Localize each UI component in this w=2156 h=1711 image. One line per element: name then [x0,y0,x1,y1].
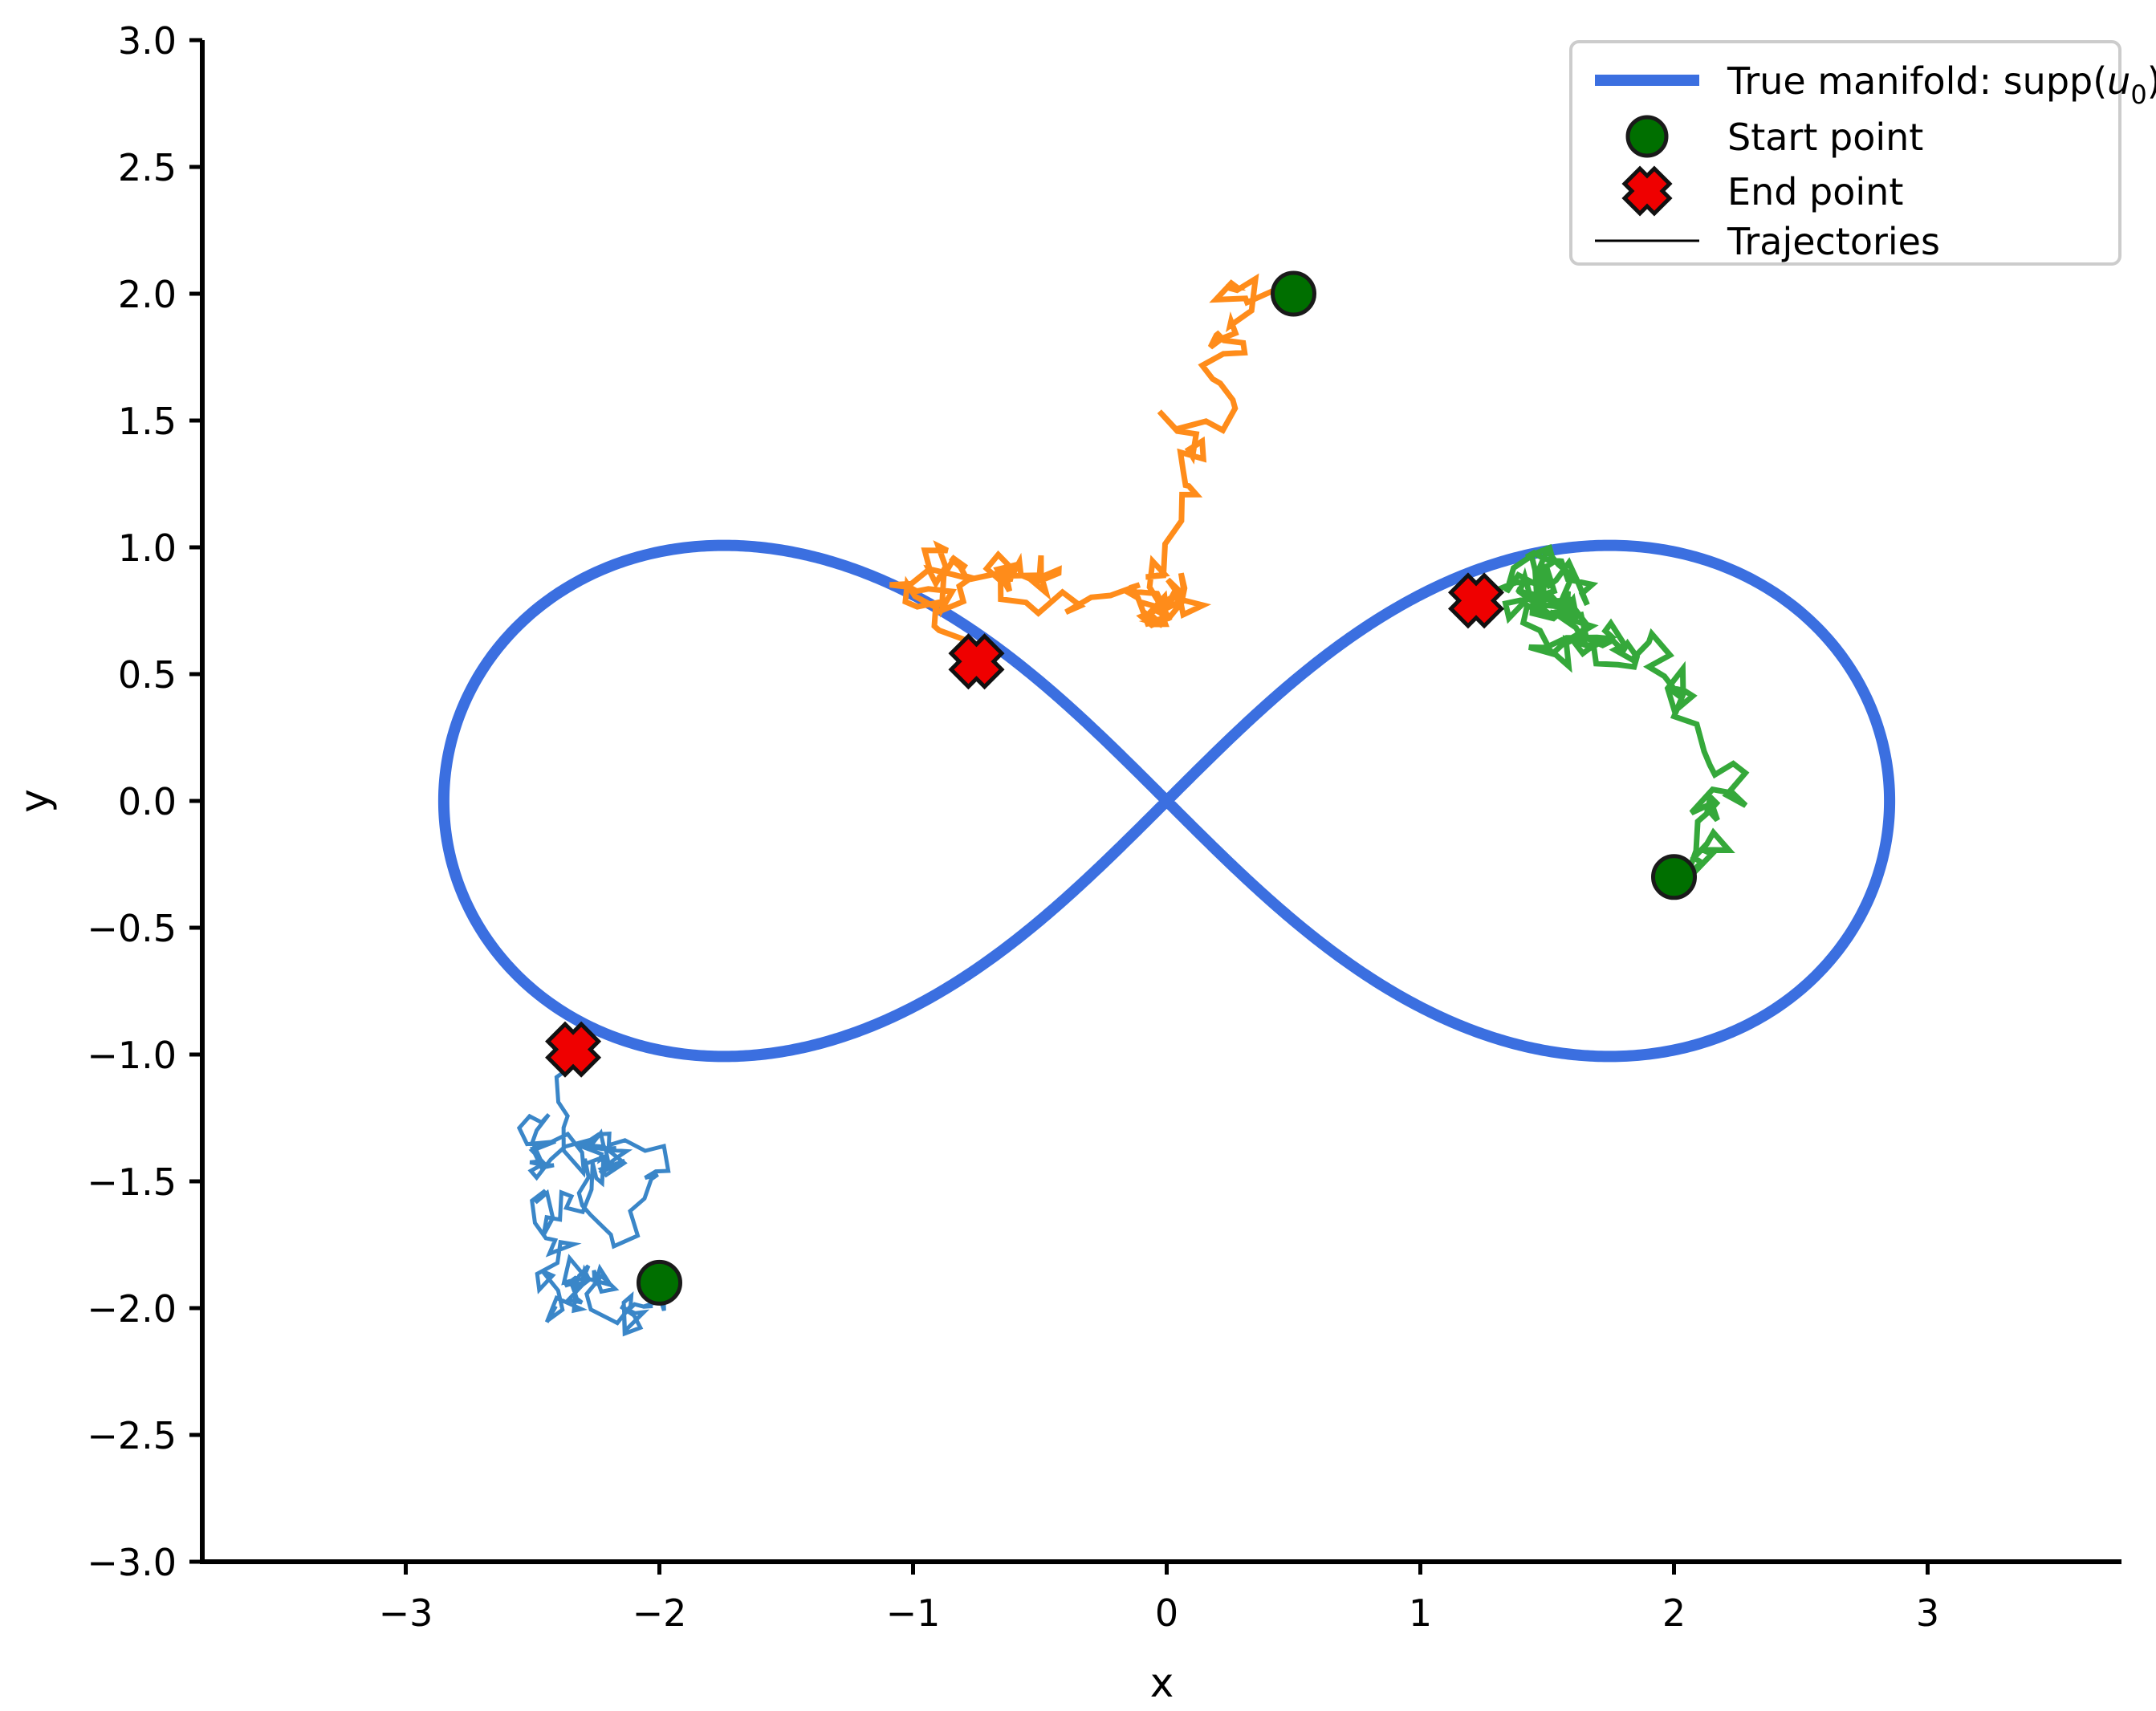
legend-start-point-icon [1628,117,1666,156]
start-point-marker [639,1262,681,1303]
x-tick-label: 0 [1155,1591,1178,1635]
legend-end-point-icon [1625,169,1670,213]
start-point-marker [1273,273,1315,315]
legend-label-start-point: Start point [1727,116,1923,159]
y-tick-label: −1.0 [87,1034,177,1077]
y-tick-label: −0.5 [87,907,177,950]
legend-label-trajectories: Trajectories [1727,220,1940,263]
y-tick-label: 1.5 [118,400,177,443]
legend-label-end-point: End point [1727,170,1903,213]
start-point-marker [1654,856,1695,898]
y-tick-label: 0.5 [118,653,177,697]
trajectory-path [889,278,1311,661]
y-axis-label: y [11,789,58,813]
chart-figure: −3−2−10123−3.0−2.5−2.0−1.5−1.0−0.50.00.5… [0,0,2156,1711]
end-point-marker [548,1024,599,1075]
markers-layer [548,273,1695,1303]
x-tick-label: −3 [379,1591,433,1635]
x-tick-label: −2 [633,1591,687,1635]
y-tick-label: 2.5 [118,146,177,189]
plot-canvas: −3−2−10123−3.0−2.5−2.0−1.5−1.0−0.50.00.5… [0,0,2156,1711]
legend-layer[interactable]: True manifold: supp(u0)Start pointEnd po… [1571,42,2156,264]
y-tick-label: 1.0 [118,526,177,570]
x-axis-label: x [1150,1660,1174,1706]
x-tick-label: 3 [1916,1591,1939,1635]
end-point-marker [951,636,1002,687]
y-tick-label: 2.0 [118,273,177,316]
trajectory-path [1470,548,1746,884]
y-tick-label: 0.0 [118,780,177,823]
end-point-marker [1451,575,1502,626]
legend-label-true-manifold: True manifold: supp(u0) [1727,59,2156,110]
x-tick-label: 1 [1409,1591,1432,1635]
y-tick-label: −3.0 [87,1541,177,1584]
y-tick-label: −2.5 [87,1414,177,1457]
y-tick-label: −2.0 [87,1287,177,1331]
y-tick-label: 3.0 [118,19,177,63]
x-tick-label: 2 [1662,1591,1686,1635]
y-tick-label: −1.5 [87,1160,177,1204]
trajectories-layer [519,278,1746,1333]
axis-labels-layer: −3−2−10123−3.0−2.5−2.0−1.5−1.0−0.50.00.5… [11,19,1939,1706]
x-tick-label: −1 [886,1591,941,1635]
